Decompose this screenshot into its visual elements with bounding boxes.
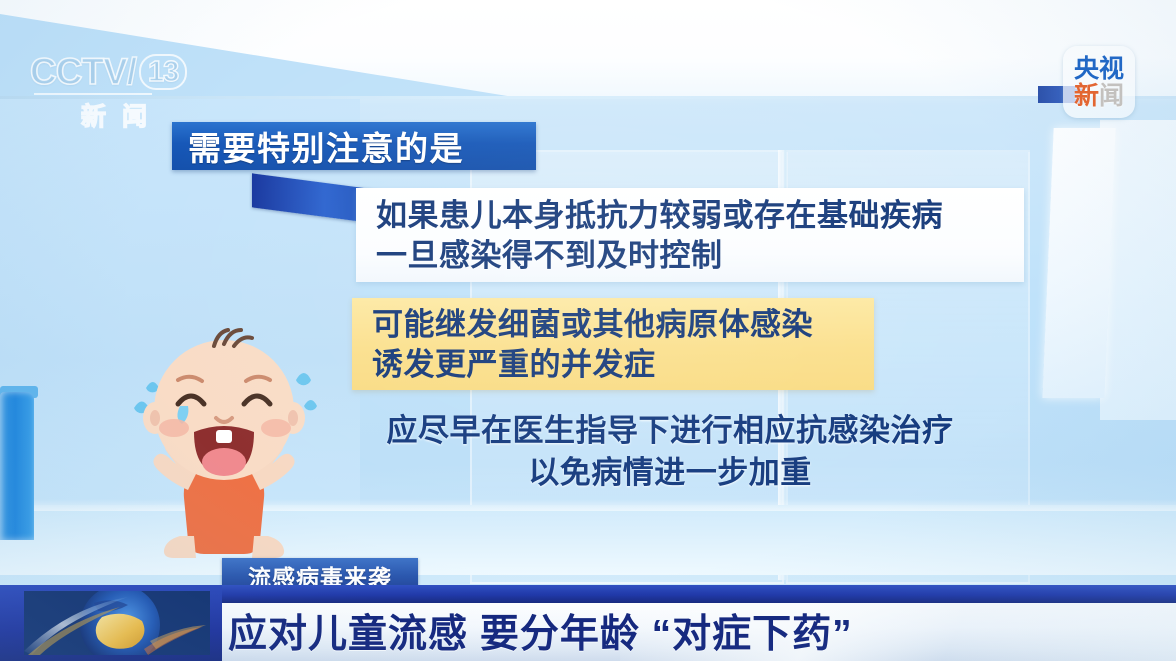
baby-ear-inner-right xyxy=(288,410,298,426)
baby-leg-right xyxy=(252,536,284,558)
cctv-channel-bug: CCTV/13 新闻 xyxy=(30,52,198,120)
statement-panel-2: 可能继发细菌或其他病原体感染 诱发更严重的并发症 xyxy=(352,298,874,390)
studio-light-panel-right xyxy=(1042,128,1115,398)
cctv-bug-brand: CCTV xyxy=(30,51,127,92)
baby-ear-inner-left xyxy=(150,410,160,426)
baby-cheek-right xyxy=(261,419,291,437)
cctv-bug-slash-icon: / xyxy=(127,52,136,92)
watermark-line-1: 央视 xyxy=(1074,56,1124,82)
watermark-line-2-second: 闻 xyxy=(1099,82,1124,110)
cctv-bug-brand-row: CCTV/13 xyxy=(30,52,198,92)
cctv-bug-channel-number: 13 xyxy=(139,54,187,90)
baby-cheek-left xyxy=(159,419,189,437)
studio-furniture-left xyxy=(0,392,34,540)
statement-3-line-2: 以免病情进一步加重 xyxy=(330,452,1010,494)
watermark-line-2: 新闻 xyxy=(1074,83,1124,109)
lower-third-headline-text: 应对儿童流感 要分年龄 “对症下药” xyxy=(228,603,853,659)
crying-baby-illustration xyxy=(126,322,322,558)
baby-leg-left xyxy=(164,536,196,558)
lower-third-headline: 应对儿童流感 要分年龄 “对症下药” xyxy=(228,603,853,659)
statement-1-line-1: 如果患儿本身抵抗力较弱或存在基础疾病 xyxy=(376,196,1012,236)
cctv-news-watermark: 央视 新闻 xyxy=(1063,46,1135,118)
cctv-bug-underline xyxy=(34,93,152,95)
globe-logo-icon xyxy=(24,591,210,655)
statement-2-line-2: 诱发更严重的并发症 xyxy=(372,345,862,385)
statement-block-3: 应尽早在医生指导下进行相应抗感染治疗 以免病情进一步加重 xyxy=(330,410,1010,502)
statement-panel-1: 如果患儿本身抵抗力较弱或存在基础疾病 一旦感染得不到及时控制 xyxy=(356,188,1024,282)
statement-2-line-1: 可能继发细菌或其他病原体感染 xyxy=(372,305,862,345)
topic-banner: 需要特别注意的是 xyxy=(172,122,536,170)
watermark-line-2-first: 新 xyxy=(1074,82,1099,110)
baby-tooth xyxy=(216,430,232,443)
baby-tongue xyxy=(202,448,246,476)
statement-3-line-1: 应尽早在医生指导下进行相应抗感染治疗 xyxy=(330,410,1010,452)
broadcast-frame: CCTV/13 新闻 央视 新闻 需要特别注意的是 如果患儿本身抵抗力较弱或存在… xyxy=(0,0,1176,661)
statement-1-line-2: 一旦感染得不到及时控制 xyxy=(376,236,1012,276)
topic-banner-text: 需要特别注意的是 xyxy=(188,122,464,170)
